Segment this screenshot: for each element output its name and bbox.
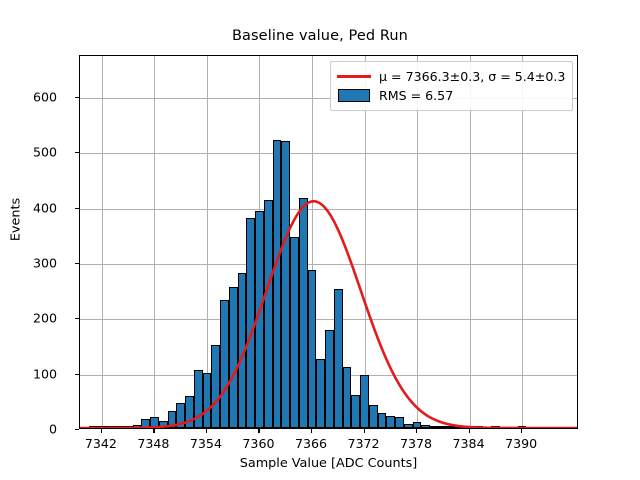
y-axis-label: Events <box>9 130 24 310</box>
plot-area <box>79 55 578 429</box>
matplotlib-figure: Baseline value, Ped Run 0100200300400500… <box>0 0 640 480</box>
x-tick-label: 7354 <box>190 436 222 451</box>
legend-patch-swatch <box>337 89 371 103</box>
legend: μ = 7366.3±0.3, σ = 5.4±0.3 RMS = 6.57 <box>330 61 573 111</box>
fit-path <box>80 201 577 428</box>
x-tick-label: 7366 <box>295 436 327 451</box>
x-tick-label: 7342 <box>85 436 117 451</box>
x-tick-label: 7384 <box>453 436 485 451</box>
x-tick-mark <box>101 429 102 433</box>
y-tick-mark <box>75 208 79 209</box>
y-tick-mark <box>75 429 79 430</box>
x-tick-mark <box>416 429 417 433</box>
legend-label-fit: μ = 7366.3±0.3, σ = 5.4±0.3 <box>379 69 565 84</box>
x-axis-label: Sample Value [ADC Counts] <box>79 456 578 471</box>
y-tick-mark <box>75 97 79 98</box>
y-tick-label: 600 <box>0 90 57 105</box>
legend-line-swatch <box>337 70 371 84</box>
page-title: Baseline value, Ped Run <box>0 28 640 44</box>
x-tick-mark <box>206 429 207 433</box>
y-tick-mark <box>75 374 79 375</box>
y-tick-mark <box>75 152 79 153</box>
x-tick-mark <box>311 429 312 433</box>
x-tick-label: 7348 <box>137 436 169 451</box>
y-tick-mark <box>75 263 79 264</box>
x-tick-label: 7372 <box>347 436 379 451</box>
gaussian-fit-curve <box>80 56 577 428</box>
x-tick-mark <box>521 429 522 433</box>
legend-item-rms: RMS = 6.57 <box>337 86 565 105</box>
y-tick-mark <box>75 318 79 319</box>
legend-label-rms: RMS = 6.57 <box>379 88 453 103</box>
x-tick-mark <box>153 429 154 433</box>
y-tick-label: 100 <box>0 366 57 381</box>
x-tick-mark <box>469 429 470 433</box>
y-tick-label: 200 <box>0 311 57 326</box>
x-tick-label: 7378 <box>400 436 432 451</box>
x-tick-label: 7360 <box>242 436 274 451</box>
x-tick-mark <box>364 429 365 433</box>
x-tick-label: 7390 <box>505 436 537 451</box>
legend-item-fit: μ = 7366.3±0.3, σ = 5.4±0.3 <box>337 67 565 86</box>
x-tick-mark <box>258 429 259 433</box>
y-tick-label: 0 <box>0 422 57 437</box>
